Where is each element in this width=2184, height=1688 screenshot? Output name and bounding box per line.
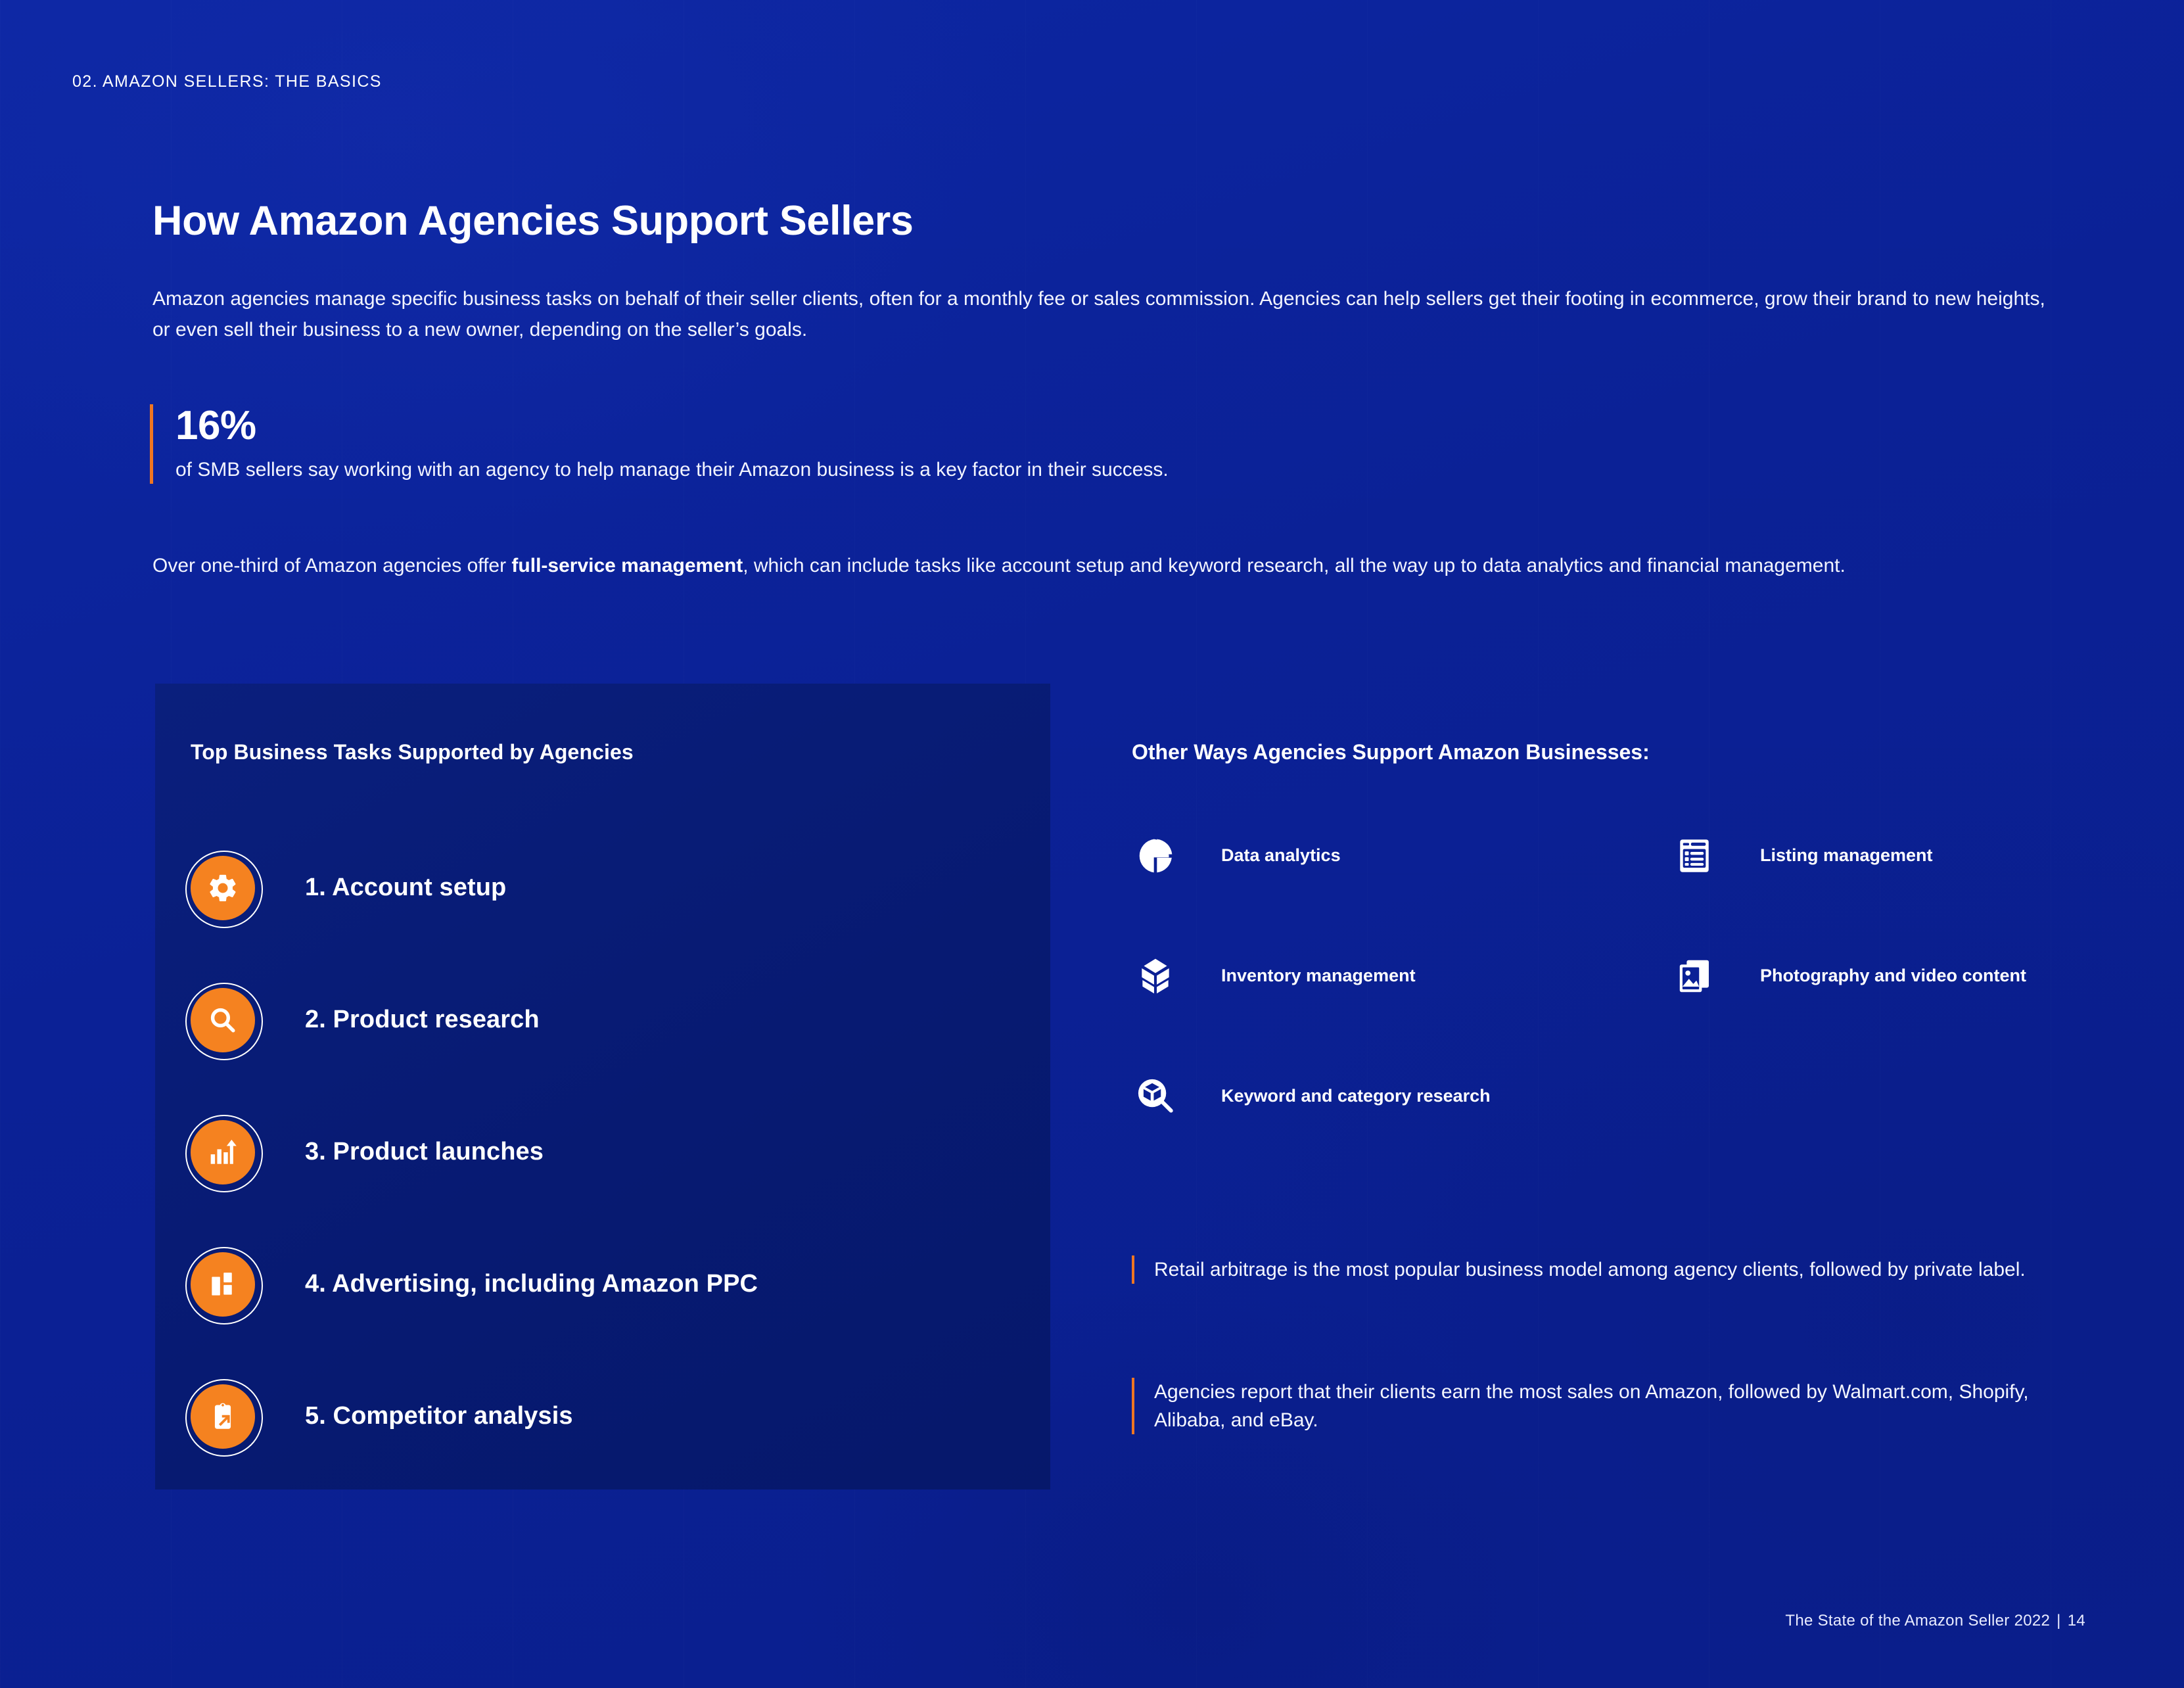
gear-icon	[191, 856, 255, 920]
clipboard-arrow-icon	[191, 1384, 255, 1449]
support-ways-column-b: Listing management Photography and video…	[1671, 824, 2026, 1007]
right-panel-title: Other Ways Agencies Support Amazon Busin…	[1132, 740, 1650, 764]
note-callout-retail-arbitrage: Retail arbitrage is the most popular bus…	[1132, 1255, 2052, 1284]
support-ways-column-a: Data analytics Inventory management Keyw…	[1132, 824, 1491, 1127]
way-label: Listing management	[1760, 843, 1933, 868]
task-list: 1. Account setup 2. Product research 3. …	[191, 822, 1045, 1482]
paragraph-2-after: , which can include tasks like account s…	[743, 555, 1846, 576]
task-badge	[191, 988, 255, 1052]
footer-document-title: The State of the Amazon Seller 2022	[1785, 1612, 2050, 1629]
list-item[interactable]: 5. Competitor analysis	[191, 1350, 1045, 1482]
page-background: 02. AMAZON SELLERS: THE BASICS How Amazo…	[0, 0, 2184, 1688]
list-item[interactable]: Inventory management	[1132, 945, 1491, 1007]
list-item[interactable]: Data analytics	[1132, 824, 1491, 887]
pie-chart-icon	[1132, 832, 1179, 879]
stat-description: of SMB sellers say working with an agenc…	[175, 456, 1924, 484]
way-label: Photography and video content	[1760, 964, 2026, 988]
secondary-paragraph: Over one-third of Amazon agencies offer …	[152, 551, 2019, 582]
browser-window-icon	[1671, 832, 1718, 879]
ad-blocks-icon	[191, 1252, 255, 1317]
way-label: Inventory management	[1221, 964, 1416, 988]
lead-paragraph: Amazon agencies manage specific business…	[152, 284, 2058, 345]
list-item[interactable]: 2. Product research	[191, 954, 1045, 1086]
task-badge	[191, 1120, 255, 1184]
section-eyebrow: 02. AMAZON SELLERS: THE BASICS	[72, 72, 382, 91]
note-callout-marketplace-sales: Agencies report that their clients earn …	[1132, 1378, 2052, 1434]
list-item[interactable]: Photography and video content	[1671, 945, 2026, 1007]
task-badge	[191, 856, 255, 920]
footer: The State of the Amazon Seller 2022|14	[1785, 1612, 2085, 1630]
way-label: Keyword and category research	[1221, 1084, 1491, 1108]
task-label: 4. Advertising, including Amazon PPC	[305, 1270, 758, 1298]
left-panel-title: Top Business Tasks Supported by Agencies	[191, 740, 634, 764]
task-label: 5. Competitor analysis	[305, 1402, 573, 1430]
stat-number: 16%	[175, 404, 1924, 447]
photo-icon	[1671, 952, 1718, 1000]
paragraph-2-bold: full-service management	[511, 555, 743, 576]
open-box-icon	[1132, 952, 1179, 1000]
way-label: Data analytics	[1221, 843, 1341, 868]
footer-separator: |	[2050, 1612, 2068, 1629]
task-badge	[191, 1252, 255, 1317]
task-label: 3. Product launches	[305, 1138, 544, 1166]
stat-callout: 16% of SMB sellers say working with an a…	[150, 404, 1924, 484]
footer-page-number: 14	[2068, 1612, 2085, 1629]
bar-chart-arrow-icon	[191, 1120, 255, 1184]
list-item[interactable]: Keyword and category research	[1132, 1065, 1491, 1127]
list-item[interactable]: 3. Product launches	[191, 1086, 1045, 1218]
task-label: 1. Account setup	[305, 874, 506, 902]
magnifier-box-icon	[1132, 1073, 1179, 1120]
task-label: 2. Product research	[305, 1006, 540, 1034]
task-badge	[191, 1384, 255, 1449]
page-title: How Amazon Agencies Support Sellers	[152, 197, 914, 245]
paragraph-2-before: Over one-third of Amazon agencies offer	[152, 555, 511, 576]
list-item[interactable]: Listing management	[1671, 824, 2026, 887]
list-item[interactable]: 4. Advertising, including Amazon PPC	[191, 1218, 1045, 1350]
magnifier-icon	[191, 988, 255, 1052]
list-item[interactable]: 1. Account setup	[191, 822, 1045, 954]
